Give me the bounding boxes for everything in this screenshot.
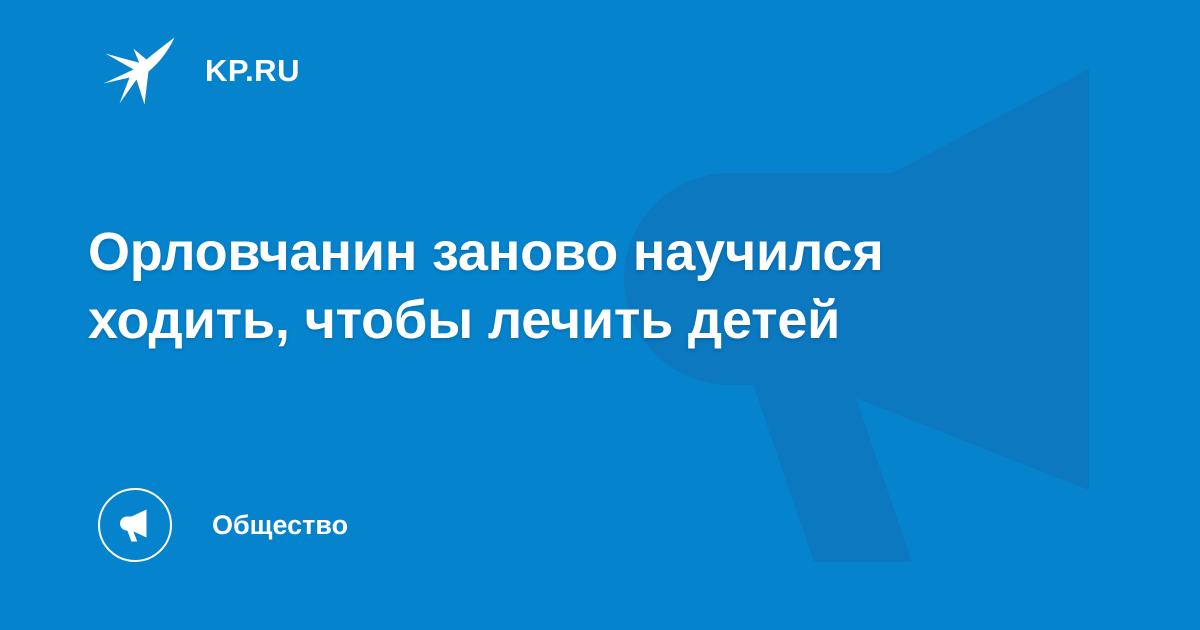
page-title: Орловчанин заново научился ходить, чтобы… — [88, 218, 988, 354]
brand-header[interactable]: KP.RU — [103, 34, 300, 106]
social-share-card: KP.RU Орловчанин заново научился ходить,… — [0, 0, 1200, 630]
brand-name: KP.RU — [205, 55, 300, 86]
rubric-icon-circle — [98, 488, 172, 562]
megaphone-icon — [115, 505, 155, 545]
swallow-bird-logo-icon — [103, 35, 177, 105]
rubric-label: Общество — [212, 512, 348, 539]
page-title-line-2: ходить, чтобы лечить детей — [88, 286, 988, 354]
rubric-badge[interactable]: Общество — [98, 486, 348, 564]
page-title-line-1: Орловчанин заново научился — [88, 218, 988, 286]
